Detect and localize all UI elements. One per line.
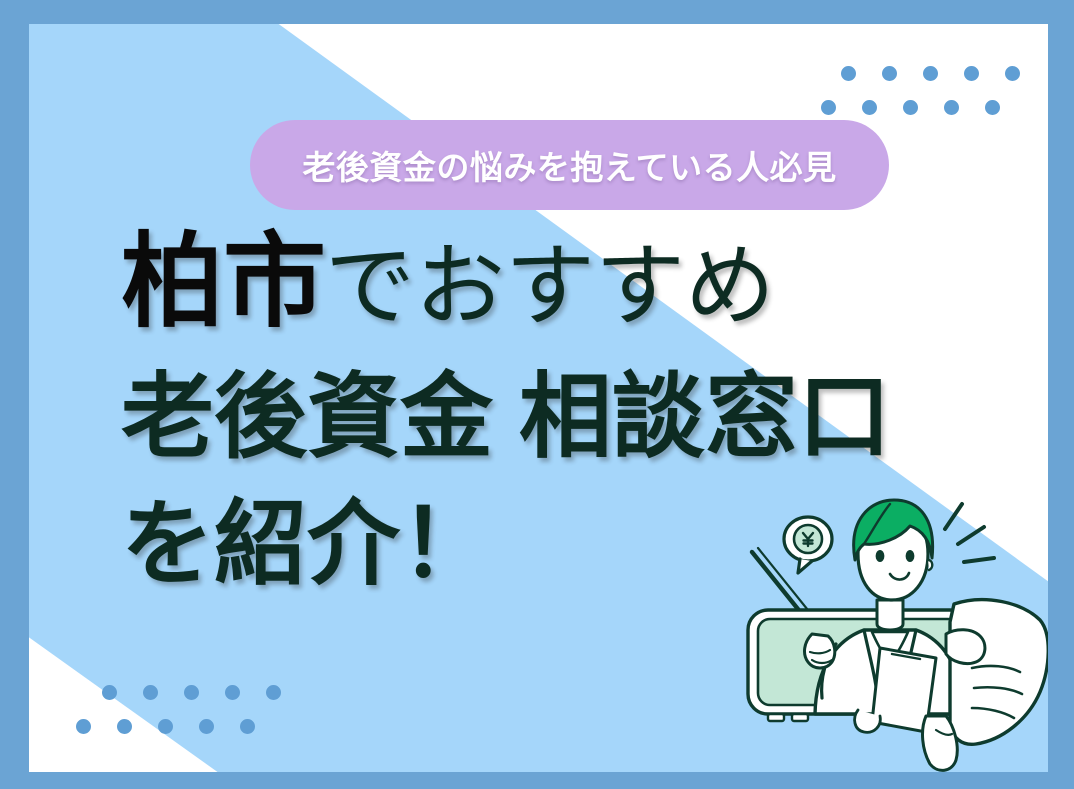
frame-border-left: [0, 0, 29, 789]
dot-row: [76, 719, 281, 734]
dot: [923, 66, 938, 81]
dot-row: [102, 685, 281, 700]
headline-line-1-rest: でおすすめ: [325, 237, 775, 337]
dot: [143, 685, 158, 700]
headline-city-name: 柏市: [121, 224, 325, 339]
dot: [158, 719, 173, 734]
eyebrow-badge: 老後資金の悩みを抱えている人必見: [250, 120, 889, 210]
thumbnail-canvas: 老後資金の悩みを抱えている人必見 柏市でおすすめ 老後資金 相談窓口 を紹介！: [0, 0, 1074, 789]
illustration-svg: [740, 482, 1048, 772]
eyebrow-badge-label: 老後資金の悩みを抱えている人必見: [302, 141, 836, 189]
dot: [102, 685, 117, 700]
frame-border-right: [1048, 0, 1074, 789]
dot: [882, 66, 897, 81]
headline-line-1: 柏市でおすすめ: [121, 230, 901, 333]
dot: [240, 719, 255, 734]
dot-row: [841, 66, 1020, 81]
yen-speech-bubble-icon: [784, 517, 832, 573]
dot: [903, 100, 918, 115]
dot: [821, 100, 836, 115]
dot: [862, 100, 877, 115]
dot: [117, 719, 132, 734]
headline-line-2: 老後資金 相談窓口: [121, 371, 901, 464]
dot-grid-bottom-left: [76, 685, 281, 734]
dot: [184, 685, 199, 700]
dot: [225, 685, 240, 700]
dot: [841, 66, 856, 81]
dot: [944, 100, 959, 115]
dot: [76, 719, 91, 734]
dot-grid-top-right: [841, 66, 1020, 115]
emphasis-lines-icon: [945, 504, 994, 562]
dot: [199, 719, 214, 734]
dot: [1005, 66, 1020, 81]
dot-row: [821, 100, 1020, 115]
frame-border-bottom: [0, 772, 1074, 789]
dot: [964, 66, 979, 81]
illustration-woman-advisor-on-smartphone: [740, 482, 1048, 772]
stage: 老後資金の悩みを抱えている人必見 柏市でおすすめ 老後資金 相談窓口 を紹介！: [29, 24, 1048, 772]
dot: [985, 100, 1000, 115]
dot: [266, 685, 281, 700]
frame-border-top: [0, 0, 1074, 24]
